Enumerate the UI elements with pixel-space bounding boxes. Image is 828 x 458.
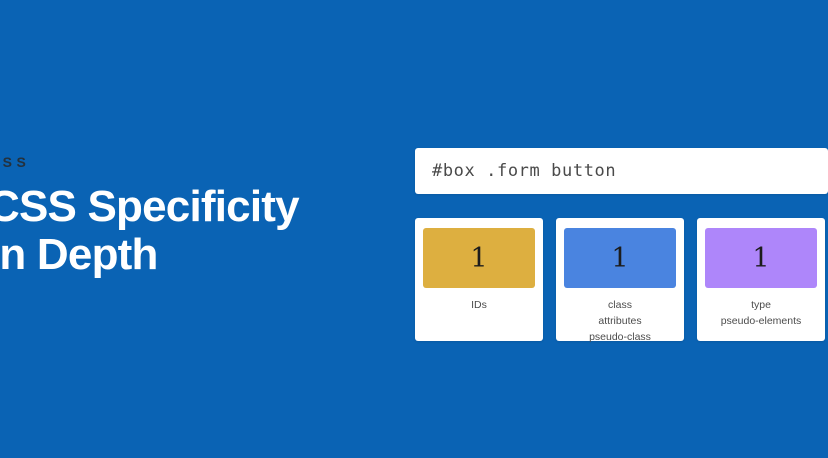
specificity-card[interactable]: 1IDs	[415, 218, 543, 341]
specificity-card-labels: typepseudo-elements	[721, 298, 802, 330]
title-block: CSS CSS Specificity in Depth	[0, 155, 388, 278]
specificity-value-swatch: 1	[423, 228, 535, 288]
specificity-panel: #box .form button 1IDs1classattributesps…	[415, 148, 828, 341]
specificity-value: 1	[752, 245, 769, 272]
eyebrow-label: CSS	[0, 155, 388, 169]
specificity-card-label: type	[721, 298, 802, 314]
specificity-card[interactable]: 1classattributespseudo-class	[556, 218, 684, 341]
selector-code-bar[interactable]: #box .form button	[415, 148, 828, 194]
specificity-card[interactable]: 1typepseudo-elements	[697, 218, 825, 341]
specificity-card-label: IDs	[471, 298, 487, 314]
specificity-value: 1	[470, 245, 487, 272]
specificity-card-labels: classattributespseudo-class	[589, 298, 651, 345]
specificity-card-list: 1IDs1classattributespseudo-class1typepse…	[415, 218, 828, 341]
specificity-card-labels: IDs	[471, 298, 487, 314]
specificity-value: 1	[611, 245, 628, 272]
specificity-value-swatch: 1	[705, 228, 817, 288]
specificity-card-label: pseudo-elements	[721, 314, 802, 330]
specificity-value-swatch: 1	[564, 228, 676, 288]
slide-root: CSS CSS Specificity in Depth #box .form …	[0, 0, 828, 458]
specificity-card-label: pseudo-class	[589, 330, 651, 346]
selector-code-text: #box .form button	[432, 161, 616, 181]
page-title: CSS Specificity in Depth	[0, 183, 388, 278]
specificity-card-label: attributes	[589, 314, 651, 330]
specificity-card-label: class	[589, 298, 651, 314]
